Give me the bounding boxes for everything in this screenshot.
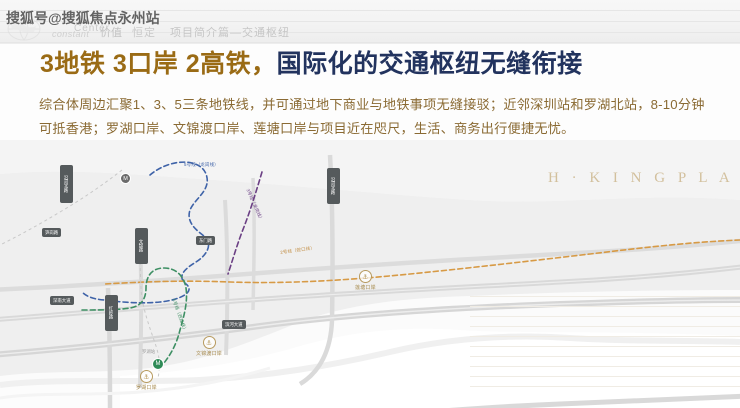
station-label: 罗湖站	[142, 349, 155, 355]
header-watermark-section: 项目简介篇—交通枢纽	[170, 24, 290, 40]
road-label: 沿河北路	[60, 165, 73, 203]
metro-station-icon: M	[152, 358, 164, 370]
road-label: 沿河北路	[327, 168, 340, 204]
port-label: 罗湖口岸	[136, 384, 157, 391]
sohu-watermark: 搜狐号@搜狐焦点永州站	[6, 8, 160, 28]
port-liantang: ⚓ 莲塘口岸	[355, 270, 376, 291]
page-title-gold: 3地铁 3口岸 2高铁，	[40, 50, 277, 78]
page-title-navy: 国际化的交通枢纽无缝衔接	[277, 50, 583, 78]
port-label: 文锦渡口岸	[196, 350, 222, 357]
road-label: 红岭路	[105, 295, 118, 331]
intro-paragraph: 综合体周边汇聚1、3、5三条地铁线，并可通过地下商业与地铁事项无缝接驳；近邻深圳…	[39, 93, 715, 141]
port-label: 莲塘口岸	[355, 284, 376, 291]
port-icon: ⚓	[203, 336, 216, 349]
brand-watermark: H · K I N G P L A Z A	[548, 170, 740, 187]
road-label: 文锦路	[135, 228, 148, 264]
road-label: 东门路	[196, 236, 215, 245]
port-icon: ⚓	[359, 270, 372, 283]
transit-map: 沿河北路 文锦路 红岭路 沿河北路 深南大道 东门路 滨河大道 笋岗路 5号线（…	[0, 140, 740, 408]
slide-header: constant Center 价值 恒定 项目简介篇—交通枢纽 搜狐号@搜狐焦…	[0, 0, 740, 44]
page-title: 3地铁 3口岸 2高铁，国际化的交通枢纽无缝衔接	[40, 48, 583, 80]
port-icon: ⚓	[140, 370, 153, 383]
metro-line-label-5-longgang: 5号线（龙岗线）	[184, 162, 219, 168]
port-wenjindu: ⚓ 文锦渡口岸	[196, 336, 222, 357]
slide-root: constant Center 价值 恒定 项目简介篇—交通枢纽 搜狐号@搜狐焦…	[0, 0, 740, 408]
watermark-rule-lines	[470, 290, 740, 400]
metro-station-icon: M	[120, 173, 131, 184]
road-label: 深南大道	[50, 296, 74, 305]
road-label: 滨河大道	[222, 320, 246, 329]
port-luohu: ⚓ 罗湖口岸	[136, 370, 157, 391]
road-label: 笋岗路	[42, 228, 61, 237]
